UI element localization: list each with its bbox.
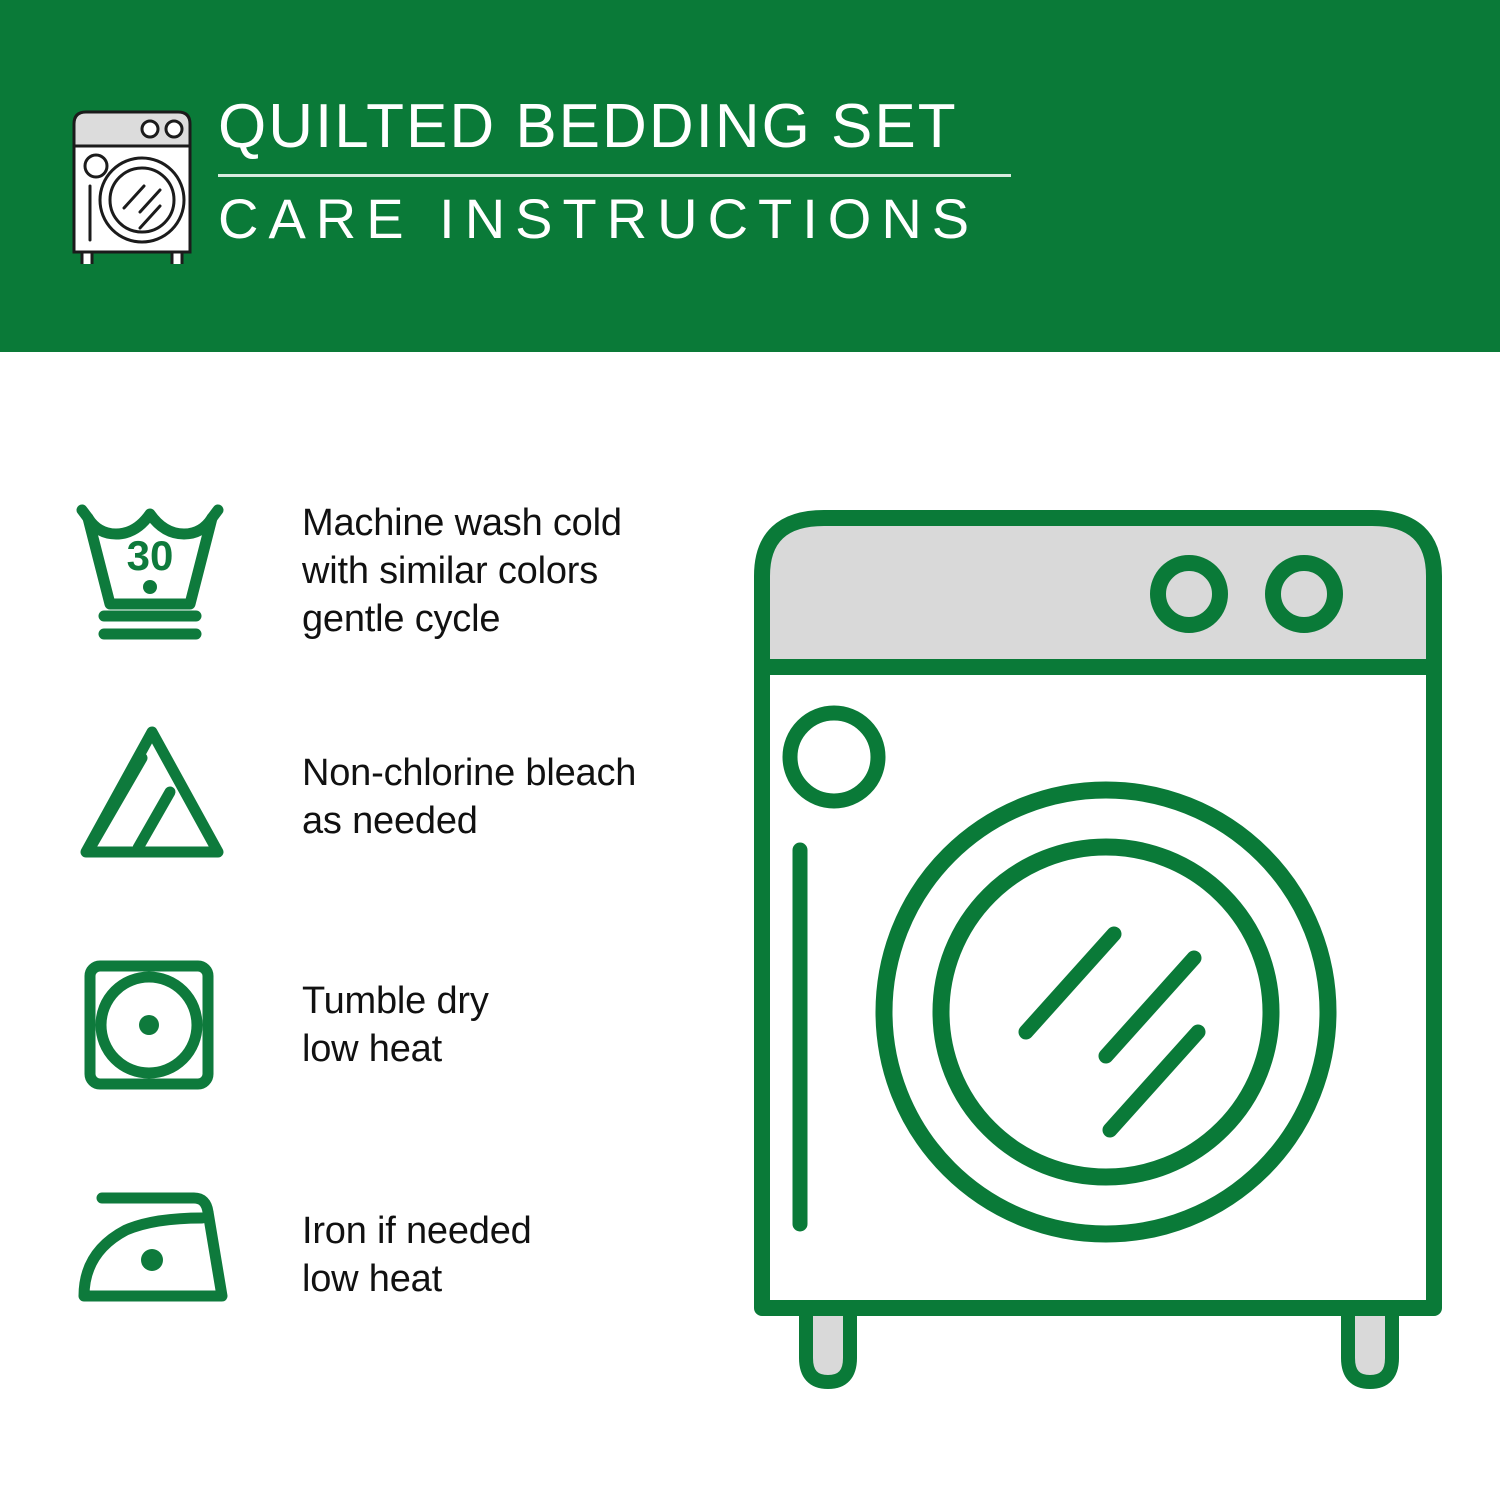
care-instruction-text: Machine wash cold with similar colors ge… [302, 500, 622, 644]
care-text-line: low heat [302, 1256, 532, 1304]
care-text-line: Tumble dry [302, 978, 489, 1026]
care-text-line: Iron if needed [302, 1208, 532, 1256]
title-divider [218, 174, 1011, 177]
care-text-line: Non-chlorine bleach [302, 750, 636, 798]
care-symbol-list: 30 Machine wash cold with similar colors… [70, 492, 730, 1404]
dispenser-indicator [790, 713, 878, 801]
care-instruction-text: Tumble dry low heat [302, 978, 489, 1074]
care-row: Tumble dry low heat [70, 948, 730, 1176]
care-row: Iron if needed low heat [70, 1176, 730, 1404]
care-instructions-page: QUILTED BEDDING SET CARE INSTRUCTIONS 30 [0, 0, 1500, 1500]
care-text-line: low heat [302, 1026, 489, 1074]
front-load-washing-machine-illustration [748, 502, 1448, 1412]
wash-temperature-value: 30 [127, 532, 174, 579]
tumble-dry-low-icon [70, 948, 240, 1098]
care-row: 30 Machine wash cold with similar colors… [70, 492, 730, 720]
care-instruction-text: Iron if needed low heat [302, 1208, 532, 1304]
care-text-line: Machine wash cold [302, 500, 622, 548]
header-banner: QUILTED BEDDING SET CARE INSTRUCTIONS [0, 0, 1500, 352]
content-area: 30 Machine wash cold with similar colors… [0, 352, 1500, 1500]
care-text-line: with similar colors [302, 548, 622, 596]
control-knob-left [1158, 563, 1220, 625]
non-chlorine-bleach-triangle-icon [70, 720, 240, 870]
care-row: Non-chlorine bleach as needed [70, 720, 730, 948]
wash-tub-30-icon: 30 [70, 492, 240, 642]
page-title: QUILTED BEDDING SET [218, 96, 1018, 158]
care-instruction-text: Non-chlorine bleach as needed [302, 750, 636, 846]
header-title-group: QUILTED BEDDING SET CARE INSTRUCTIONS [218, 96, 1018, 247]
page-subtitle: CARE INSTRUCTIONS [218, 191, 1018, 247]
control-knob-right [1273, 563, 1335, 625]
care-text-line: gentle cycle [302, 596, 622, 644]
washing-machine-icon [62, 104, 202, 264]
care-text-line: as needed [302, 798, 636, 846]
iron-low-heat-icon [70, 1176, 240, 1326]
